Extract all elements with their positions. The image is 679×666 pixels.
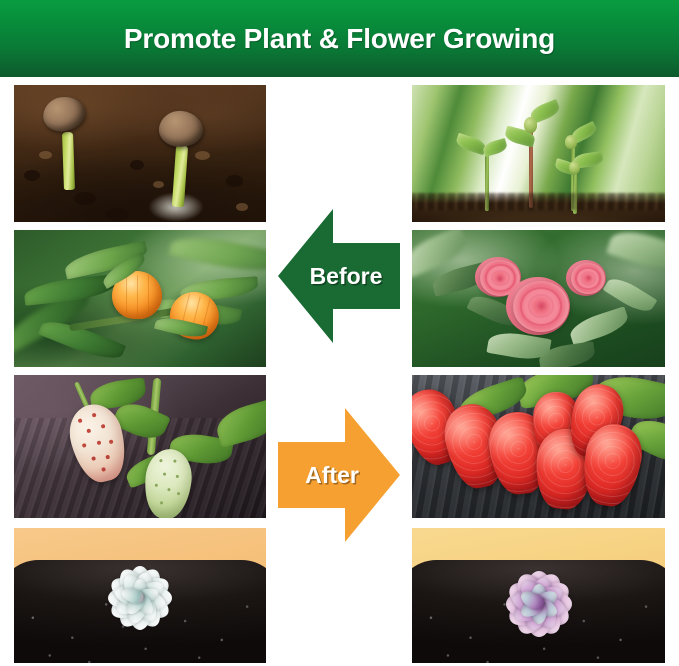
photo-after-row2: Three fully bloomed pink roses with gree…: [412, 230, 665, 367]
ripe-red-strawberries-image: [412, 375, 665, 518]
page-title: Promote Plant & Flower Growing: [124, 23, 555, 55]
photo-after-row3: A row of large ripe red strawberries wit…: [412, 375, 665, 518]
purple-succulent-image: [412, 528, 665, 663]
unopened-flower-buds-image: [14, 230, 266, 367]
leafy-seedlings-image: [412, 85, 665, 222]
germinating-seeds-image: [14, 85, 266, 222]
photo-before-row4: Pale blue-green succulent rosette plante…: [14, 528, 266, 663]
photo-after-row4: Vivid purple and pink succulent rosette …: [412, 528, 665, 663]
photo-before-row2: Two closed orange flower buds on a green…: [14, 230, 266, 367]
after-arrow: After: [278, 404, 400, 546]
header-banner: Promote Plant & Flower Growing: [0, 0, 679, 77]
after-arrow-label: After: [305, 462, 359, 489]
photo-before-row1: Two sprouting seeds with brown seed coat…: [14, 85, 266, 222]
blooming-pink-roses-image: [412, 230, 665, 367]
pale-succulent-image: [14, 528, 266, 663]
infographic-page: Promote Plant & Flower Growing Two sprou…: [0, 0, 679, 666]
before-arrow: Before: [278, 205, 400, 347]
unripe-strawberries-image: [14, 375, 266, 518]
photo-before-row3: Unripe pale white and green strawberries…: [14, 375, 266, 518]
photo-after-row1: Young green bean seedlings with open lea…: [412, 85, 665, 222]
before-arrow-label: Before: [310, 263, 383, 290]
